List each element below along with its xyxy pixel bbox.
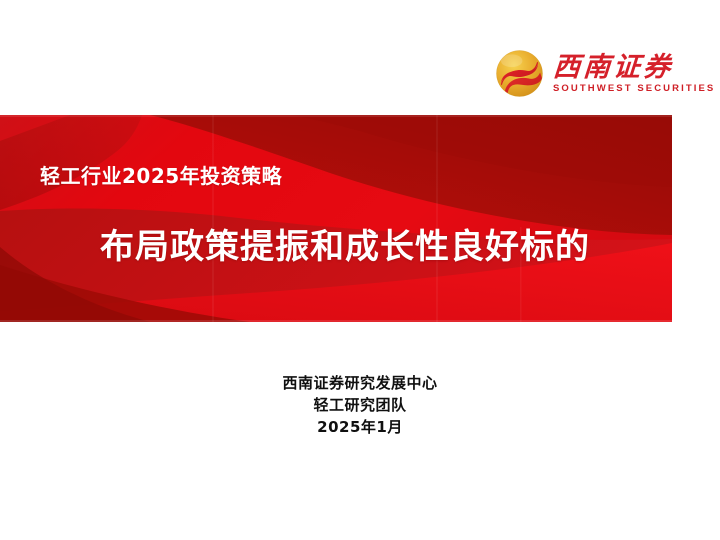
title-banner: 轻工行业2025年投资策略 布局政策提振和成长性良好标的	[0, 115, 672, 322]
slide-cover: 西南证券 SOUTHWEST SECURITIES	[0, 0, 720, 540]
logo-wordmark: 西南证券 SOUTHWEST SECURITIES	[553, 52, 715, 95]
report-title: 布局政策提振和成长性良好标的	[100, 219, 590, 268]
footer-line-team: 轻工研究团队	[0, 394, 720, 416]
banner-text-group: 轻工行业2025年投资策略 布局政策提振和成长性良好标的	[0, 115, 672, 322]
report-subtitle: 轻工行业2025年投资策略	[40, 160, 282, 189]
footer-block: 西南证券研究发展中心 轻工研究团队 2025年1月	[0, 372, 720, 438]
logo-company-name-cn: 西南证券	[552, 54, 716, 82]
footer-line-institution: 西南证券研究发展中心	[0, 372, 720, 394]
footer-line-date: 2025年1月	[0, 416, 720, 438]
company-logo: 西南证券 SOUTHWEST SECURITIES	[495, 42, 690, 104]
southwest-securities-logo-mark-icon	[495, 49, 544, 98]
logo-company-name-en: SOUTHWEST SECURITIES	[553, 84, 715, 94]
